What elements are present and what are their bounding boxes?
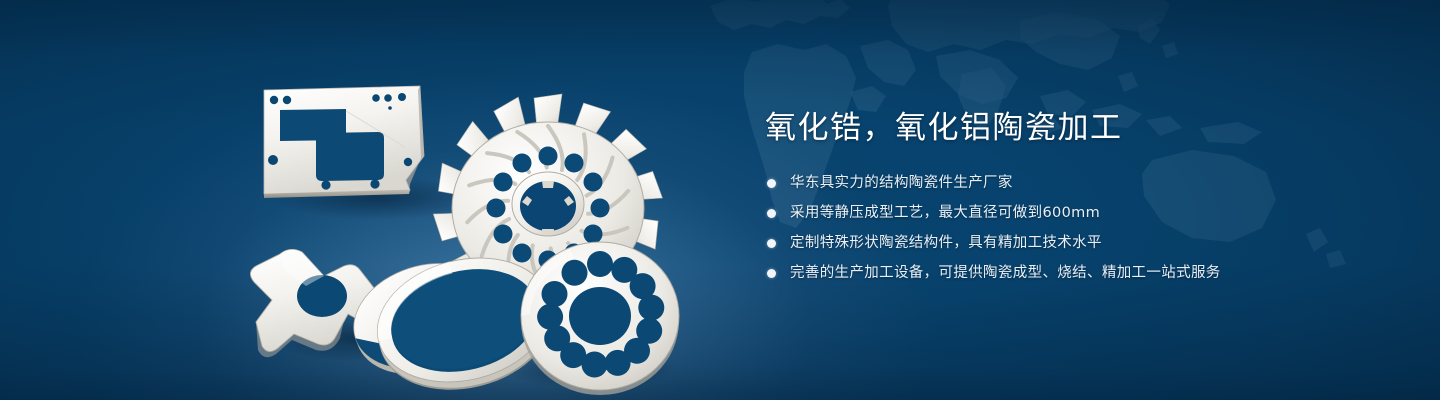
- banner-copy: 氧化锆，氧化铝陶瓷加工 华东具实力的结构陶瓷件生产厂家 采用等静压成型工艺，最大…: [765, 108, 1385, 284]
- list-item: 采用等静压成型工艺，最大直径可做到600mm: [767, 202, 1385, 224]
- list-item: 定制特殊形状陶瓷结构件，具有精加工技术水平: [767, 232, 1385, 254]
- feature-list: 华东具实力的结构陶瓷件生产厂家 采用等静压成型工艺，最大直径可做到600mm 定…: [767, 172, 1385, 284]
- ceramic-perforated-disc: [521, 242, 679, 395]
- feature-text: 采用等静压成型工艺，最大直径可做到600mm: [790, 202, 1100, 224]
- feature-text: 定制特殊形状陶瓷结构件，具有精加工技术水平: [790, 232, 1102, 254]
- page-title: 氧化锆，氧化铝陶瓷加工: [765, 108, 1385, 148]
- hero-banner: 氧化锆，氧化铝陶瓷加工 华东具实力的结构陶瓷件生产厂家 采用等静压成型工艺，最大…: [0, 0, 1440, 400]
- bullet-dot-icon: [767, 179, 776, 188]
- product-photo-group: [228, 38, 698, 383]
- list-item: 华东具实力的结构陶瓷件生产厂家: [767, 172, 1385, 194]
- bullet-dot-icon: [767, 209, 776, 218]
- feature-text: 华东具实力的结构陶瓷件生产厂家: [790, 172, 1013, 194]
- bullet-dot-icon: [767, 269, 776, 278]
- ceramic-plate: [264, 86, 424, 198]
- feature-text: 完善的生产加工设备，可提供陶瓷成型、烧结、精加工一站式服务: [790, 262, 1221, 284]
- list-item: 完善的生产加工设备，可提供陶瓷成型、烧结、精加工一站式服务: [767, 262, 1385, 284]
- bullet-dot-icon: [767, 239, 776, 248]
